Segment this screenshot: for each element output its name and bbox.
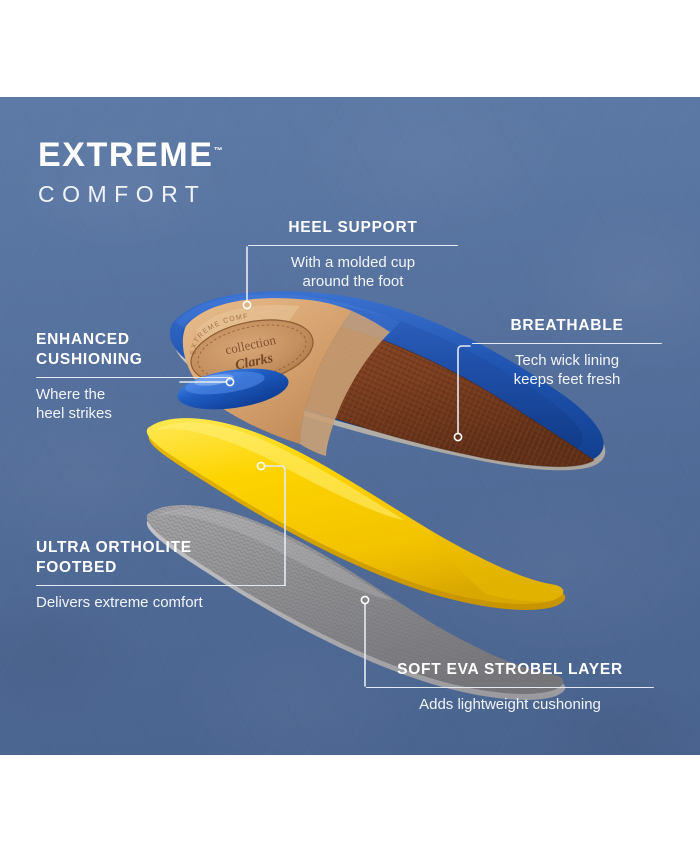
callout-divider <box>366 687 654 689</box>
callout-breathable: BREATHABLE Tech wick lining keeps feet f… <box>472 316 662 390</box>
callout-body: Delivers extreme comfort <box>36 594 286 613</box>
callout-enhanced-cushioning: ENHANCED CUSHIONING Where the heel strik… <box>36 330 232 423</box>
infographic-page: collection Clarks EXTREME COMFORT <box>0 0 700 855</box>
callout-ultra-ortholite-footbed: ULTRA ORTHOLITE FOOTBED Delivers extreme… <box>36 538 286 613</box>
callout-heading: ENHANCED CUSHIONING <box>36 330 232 370</box>
callout-body: Adds lightweight cushoning <box>366 696 654 715</box>
callout-heading: BREATHABLE <box>472 316 662 336</box>
callout-heading: ULTRA ORTHOLITE FOOTBED <box>36 538 286 578</box>
brand-extreme-text: EXTREME <box>38 136 214 174</box>
callout-soft-eva-strobel-layer: SOFT EVA STROBEL LAYER Adds lightweight … <box>366 660 654 715</box>
callout-divider <box>472 343 662 345</box>
callout-heel-support: HEEL SUPPORT With a molded cup around th… <box>248 218 458 292</box>
callout-body: With a molded cup around the foot <box>248 254 458 291</box>
callout-body: Where the heel strikes <box>36 386 232 423</box>
callout-heading: HEEL SUPPORT <box>248 218 458 238</box>
callout-body: Tech wick lining keeps feet fresh <box>472 352 662 389</box>
trademark-symbol: ™ <box>214 146 223 156</box>
callout-heading: SOFT EVA STROBEL LAYER <box>366 660 654 680</box>
callout-divider <box>36 585 286 587</box>
brand-logo: EXTREME™ COMFORT <box>38 138 223 206</box>
brand-line-2: COMFORT <box>38 183 223 206</box>
callout-divider <box>36 377 232 379</box>
callout-divider <box>248 245 458 247</box>
brand-line-1: EXTREME™ <box>38 138 223 172</box>
insole-exploded-illustration: collection Clarks EXTREME COMFORT <box>0 0 700 855</box>
